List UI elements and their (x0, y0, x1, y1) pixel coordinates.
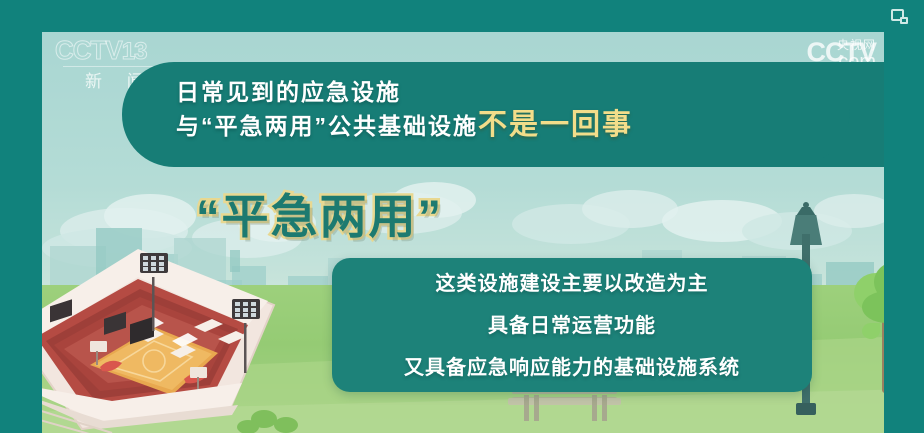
frame-bar-top (0, 0, 924, 32)
cctv-13-logo-number: 13 (122, 38, 147, 65)
headline-line-1: 日常见到的应急设施 (176, 76, 876, 108)
frame-bar-left (0, 0, 42, 433)
picture-in-picture-icon[interactable] (891, 9, 908, 24)
info-panel: 这类设施建设主要以改造为主 具备日常运营功能 又具备应急响应能力的基础设施系统 (332, 258, 812, 392)
broadcast-screenshot: CCTV13 新 闻 CCTV 央视网 com 日常见到的应急设施 与“平急两用… (0, 0, 924, 433)
info-panel-line: 这类设施建设主要以改造为主 (332, 263, 812, 305)
headline-text: 日常见到的应急设施 与“平急两用”公共基础设施不是一回事 (176, 76, 876, 143)
page-title: “平急两用” (196, 178, 443, 247)
isometric-arena-illustration (42, 233, 342, 433)
info-panel-line: 又具备应急响应能力的基础设施系统 (332, 347, 812, 389)
tree (848, 253, 884, 393)
info-panel-line: 具备日常运营功能 (332, 305, 812, 347)
frame-bar-right (884, 0, 924, 433)
headline-line-2-prefix: 与“平急两用”公共基础设施 (176, 113, 478, 139)
cctv-13-logo-network: CCTV (55, 35, 122, 65)
headline-accent: 不是一回事 (478, 109, 633, 141)
